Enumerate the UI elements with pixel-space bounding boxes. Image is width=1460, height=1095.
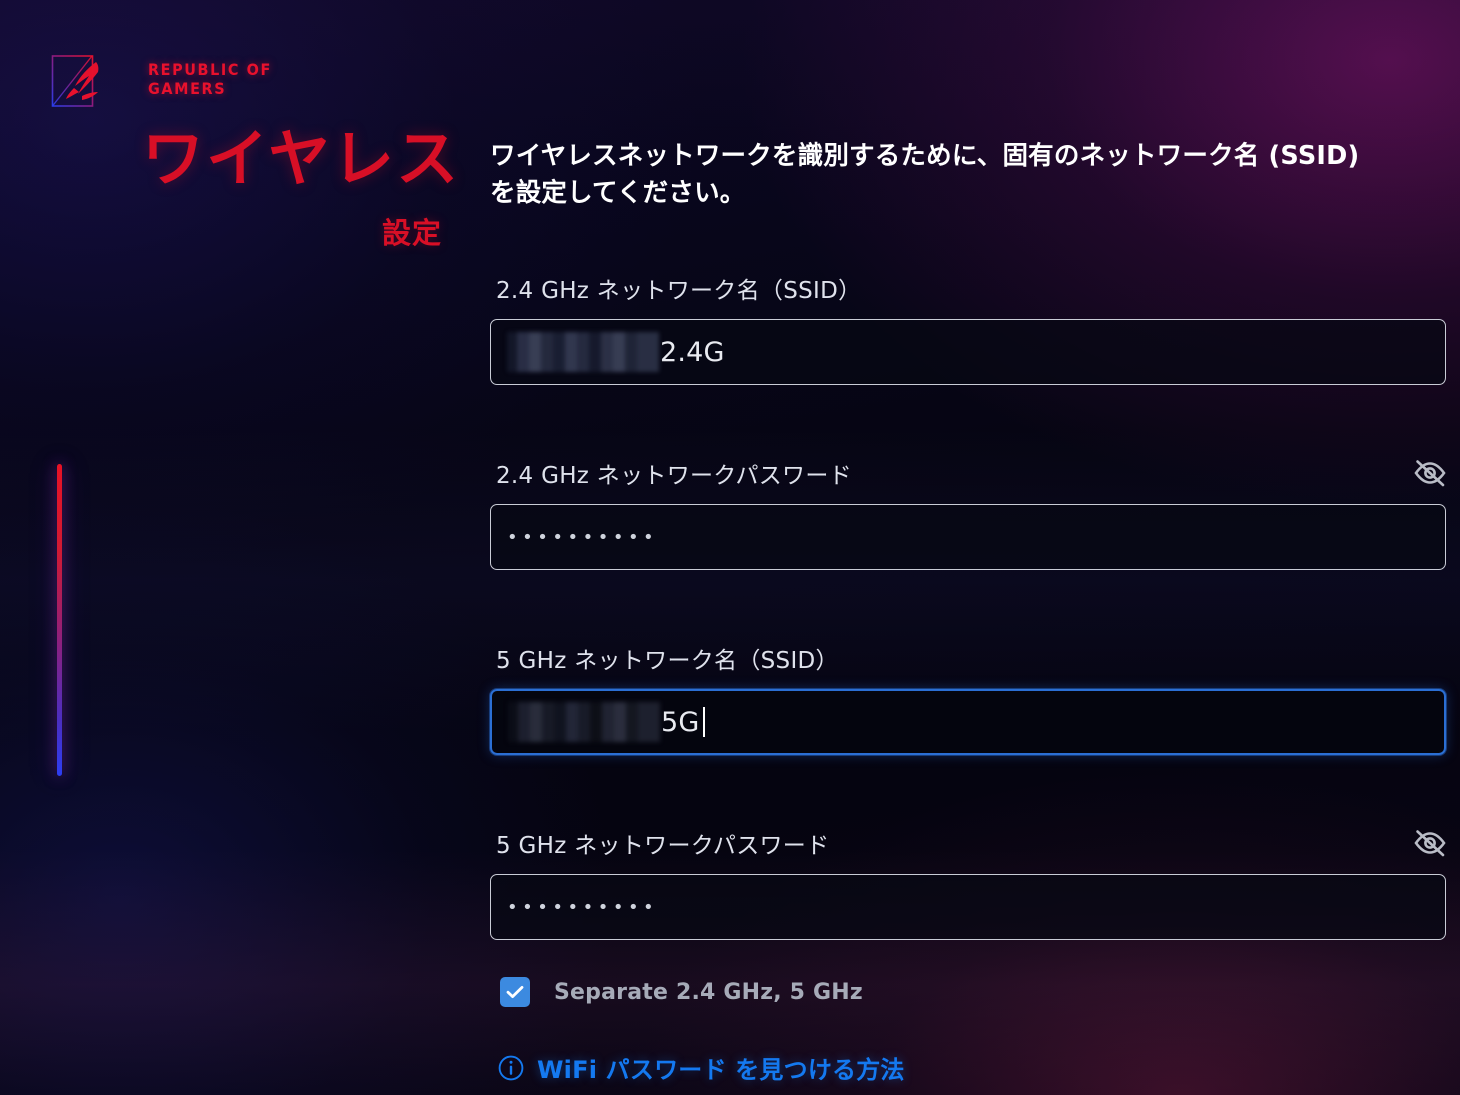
password-24-value: ••••••••••: [507, 527, 658, 548]
ssid-24-input[interactable]: 2.4G: [490, 319, 1446, 385]
ssid-5-suffix: 5G: [661, 709, 700, 736]
page-title: ワイヤレス: [142, 122, 460, 196]
info-circle-icon: [498, 1055, 524, 1081]
eye-off-icon: [1412, 459, 1448, 487]
wifi-password-help-text: WiFi パスワード を見つける方法: [537, 1050, 905, 1085]
label-row-password-24: 2.4 GHz ネットワークパスワード: [490, 456, 1448, 490]
label-row-ssid-24: 2.4 GHz ネットワーク名（SSID）: [490, 271, 1448, 305]
ssid-5-value: 5G: [508, 702, 705, 742]
field-password-24: 2.4 GHz ネットワークパスワード ••••••••••: [490, 456, 1448, 570]
page-subtitle: 設定: [382, 210, 442, 252]
redaction-mosaic: [508, 702, 660, 742]
password-24-reveal-toggle[interactable]: [1406, 457, 1448, 489]
field-ssid-5: 5 GHz ネットワーク名（SSID） 5G: [490, 641, 1448, 755]
rog-eye-logo-icon: [50, 52, 108, 112]
password-5-value: ••••••••••: [507, 897, 658, 918]
password-5-input[interactable]: ••••••••••: [490, 874, 1446, 940]
password-5-label: 5 GHz ネットワークパスワード: [490, 826, 829, 860]
ssid-24-value: 2.4G: [507, 332, 725, 372]
wireless-form: ワイヤレスネットワークを識別するために、固有のネットワーク名 (SSID) を設…: [490, 138, 1448, 212]
label-row-ssid-5: 5 GHz ネットワーク名（SSID）: [490, 641, 1448, 675]
redaction-mosaic: [507, 332, 659, 372]
intro-text: ワイヤレスネットワークを識別するために、固有のネットワーク名 (SSID) を設…: [490, 138, 1380, 212]
separate-bands-checkbox[interactable]: [500, 977, 530, 1007]
ssid-5-input[interactable]: 5G: [490, 689, 1446, 755]
wireless-setup-screen: REPUBLIC OF GAMERS ワイヤレス 設定 ワイヤレスネットワークを…: [0, 0, 1460, 1095]
rog-logo-text: REPUBLIC OF GAMERS: [148, 60, 272, 98]
wifi-password-help-link[interactable]: WiFi パスワード を見つける方法: [498, 1050, 905, 1085]
password-24-label: 2.4 GHz ネットワークパスワード: [490, 456, 852, 490]
field-ssid-24: 2.4 GHz ネットワーク名（SSID） 2.4G: [490, 271, 1448, 385]
field-password-5: 5 GHz ネットワークパスワード ••••••••••: [490, 826, 1448, 940]
ssid-24-label: 2.4 GHz ネットワーク名（SSID）: [490, 271, 861, 305]
ssid-5-label: 5 GHz ネットワーク名（SSID）: [490, 641, 839, 675]
separate-bands-label: Separate 2.4 GHz, 5 GHz: [554, 980, 863, 1005]
rog-logo: REPUBLIC OF GAMERS: [50, 52, 350, 114]
ssid-24-suffix: 2.4G: [660, 339, 725, 366]
text-caret: [703, 707, 705, 737]
password-24-input[interactable]: ••••••••••: [490, 504, 1446, 570]
password-5-reveal-toggle[interactable]: [1406, 827, 1448, 859]
accent-gradient-bar: [57, 464, 62, 776]
separate-bands-row[interactable]: Separate 2.4 GHz, 5 GHz: [500, 977, 863, 1007]
label-row-password-5: 5 GHz ネットワークパスワード: [490, 826, 1448, 860]
eye-off-icon: [1412, 829, 1448, 857]
check-icon: [506, 985, 524, 999]
